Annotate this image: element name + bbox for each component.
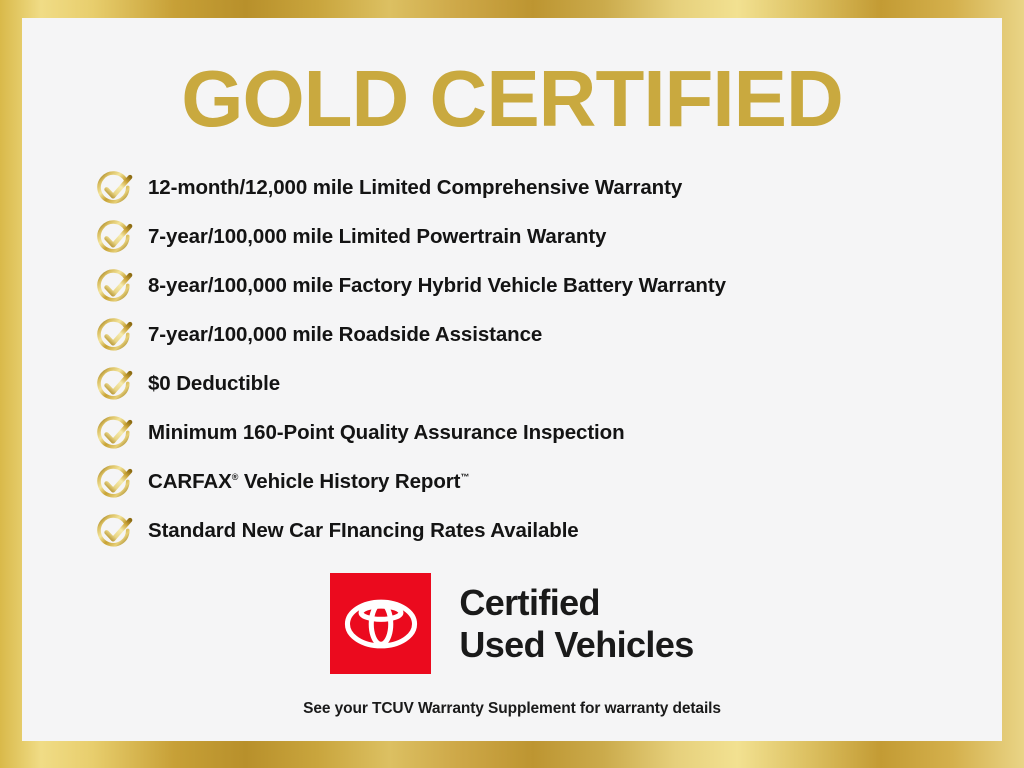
benefit-item: 12-month/12,000 mile Limited Comprehensi… <box>94 164 994 213</box>
check-circle-icon <box>94 315 136 357</box>
gold-certified-certificate: GOLD CERTIFIED 12-month/12,000 mile Limi… <box>0 0 1024 768</box>
page-title: GOLD CERTIFIED <box>22 56 1002 142</box>
benefit-label: 7-year/100,000 mile Roadside Assistance <box>148 325 542 346</box>
check-circle-icon <box>94 217 136 259</box>
check-circle-icon <box>94 266 136 308</box>
benefit-label: 8-year/100,000 mile Factory Hybrid Vehic… <box>148 276 726 297</box>
check-circle-icon <box>94 364 136 406</box>
registered-trademark-icon: ® <box>232 472 239 482</box>
benefit-item: 7-year/100,000 mile Roadside Assistance <box>94 311 994 360</box>
benefit-item: Minimum 160-Point Quality Assurance Insp… <box>94 409 994 458</box>
wordmark-line-1: Certified <box>459 582 693 624</box>
benefit-label: Minimum 160-Point Quality Assurance Insp… <box>148 423 625 444</box>
trademark-icon: ™ <box>460 472 469 482</box>
toyota-certified-used-vehicles-lockup: Certified Used Vehicles <box>22 573 1002 674</box>
warranty-footnote: See your TCUV Warranty Supplement for wa… <box>22 700 1002 718</box>
benefit-label: CARFAX® Vehicle History Report™ <box>148 472 469 493</box>
benefit-item: Standard New Car FInancing Rates Availab… <box>94 507 994 556</box>
benefit-item: CARFAX® Vehicle History Report™ <box>94 458 994 507</box>
certified-used-vehicles-wordmark: Certified Used Vehicles <box>459 582 693 666</box>
wordmark-line-2: Used Vehicles <box>459 624 693 666</box>
benefit-label: $0 Deductible <box>148 374 280 395</box>
check-circle-icon <box>94 462 136 504</box>
toyota-logo <box>330 573 431 674</box>
benefit-item: 7-year/100,000 mile Limited Powertrain W… <box>94 213 994 262</box>
check-circle-icon <box>94 511 136 553</box>
benefit-item: $0 Deductible <box>94 360 994 409</box>
check-circle-icon <box>94 413 136 455</box>
benefit-label: 7-year/100,000 mile Limited Powertrain W… <box>148 227 606 248</box>
check-circle-icon <box>94 168 136 210</box>
benefit-label: 12-month/12,000 mile Limited Comprehensi… <box>148 178 682 199</box>
benefit-item: 8-year/100,000 mile Factory Hybrid Vehic… <box>94 262 994 311</box>
certificate-card: GOLD CERTIFIED 12-month/12,000 mile Limi… <box>22 18 1002 741</box>
benefit-label: Standard New Car FInancing Rates Availab… <box>148 521 579 542</box>
benefits-list: 12-month/12,000 mile Limited Comprehensi… <box>94 164 994 556</box>
